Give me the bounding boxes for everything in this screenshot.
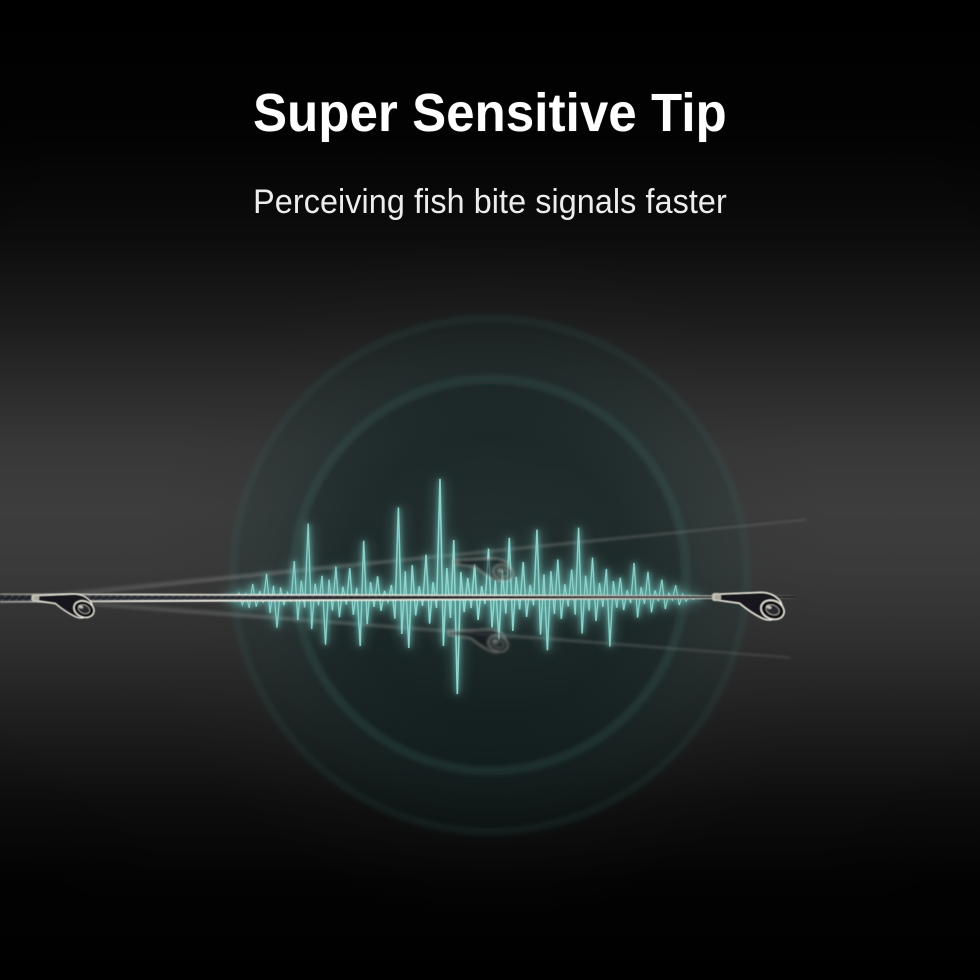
page-subtitle: Perceiving fish bite signals faster	[25, 183, 956, 222]
product-feature-banner: Super Sensitive Tip Perceiving fish bite…	[0, 0, 980, 980]
page-title: Super Sensitive Tip	[29, 82, 950, 144]
background-vignette	[0, 0, 980, 980]
